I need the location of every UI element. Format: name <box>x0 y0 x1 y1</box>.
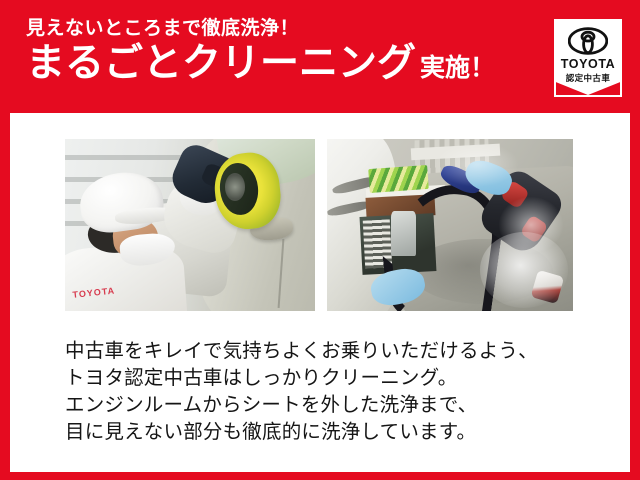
content-card: TOYOTA <box>10 113 630 472</box>
header-text-block: 見えないところまで徹底洗浄！ まるごとクリーニング 実施！ <box>26 18 526 85</box>
steam-plume <box>499 197 563 252</box>
logo-inner: TOYOTA 認定中古車 <box>556 21 620 95</box>
toyota-oval-emblem <box>568 27 608 55</box>
body-copy-line-1: 中古車をキレイで気持ちよくお乗りいただけるよう、 <box>65 338 605 365</box>
green-supplies-box <box>368 164 429 192</box>
polishing-photo: TOYOTA <box>65 139 315 311</box>
polisher-pad-hub <box>225 173 245 201</box>
body-copy: 中古車をキレイで気持ちよくお乗りいただけるよう、 トヨタ認定中古車はしっかりクリ… <box>65 338 605 446</box>
headline-main: まるごとクリーニング <box>26 44 416 85</box>
photo-row: TOYOTA <box>65 139 573 311</box>
body-copy-line-3: エンジンルームからシートを外した洗浄まで、 <box>65 392 605 419</box>
toyota-certified-used-car-logo: TOYOTA 認定中古車 <box>554 19 622 97</box>
header-kicker: 見えないところまで徹底洗浄！ <box>26 18 526 40</box>
steam-haze <box>435 142 519 187</box>
body-copy-line-2: トヨタ認定中古車はしっかりクリーニング。 <box>65 365 605 392</box>
headline-row: まるごとクリーニング 実施！ <box>26 44 526 85</box>
body-copy-line-4: 目に見えない部分も徹底的に洗浄しています。 <box>65 419 605 446</box>
banner-header: 見えないところまで徹底洗浄！ まるごとクリーニング 実施！ TOYOTA 認定中… <box>0 0 640 113</box>
cleaning-promo-banner: 見えないところまで徹底洗浄！ まるごとクリーニング 実施！ TOYOTA 認定中… <box>0 0 640 480</box>
steam-cleaning-photo <box>327 139 573 311</box>
headline-suffix: 実施！ <box>420 55 495 81</box>
toyota-certified-subtitle: 認定中古車 <box>556 72 620 84</box>
toyota-wordmark: TOYOTA <box>556 57 620 71</box>
